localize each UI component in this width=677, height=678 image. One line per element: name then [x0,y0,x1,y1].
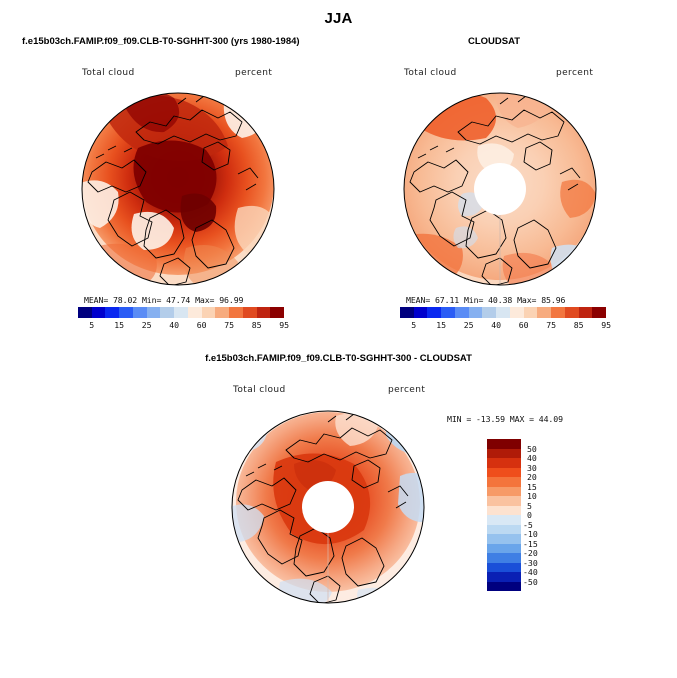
obs-cbtick-3: 40 [483,320,509,330]
model-cbtick-7: 95 [271,320,297,330]
model-cbtick-6: 85 [244,320,270,330]
difference-cbtick-6: 5 [527,501,532,511]
difference-cbtick-0: 50 [527,444,537,454]
difference-colorbar-swatches[interactable] [487,439,521,591]
difference-cbtick-8: -5 [523,520,533,530]
difference-cbtick-7: 0 [527,510,532,520]
model-units-label: percent [235,68,272,78]
difference-stats: MIN = -13.59 MAX = 44.09 [447,414,563,424]
obs-cbtick-7: 95 [593,320,619,330]
model-variable-label: Total cloud [82,68,135,78]
model-colorbar-swatches[interactable] [78,307,284,318]
model-colorbar[interactable]: 5 15 25 40 60 75 85 95 [78,307,284,334]
difference-polar-data-gap [302,481,354,533]
obs-polar-map [400,88,600,293]
model-polar-map [78,88,278,293]
model-cbtick-3: 40 [161,320,187,330]
obs-stats: MEAN= 67.11 Min= 40.38 Max= 85.96 [406,295,565,305]
season-title: JJA [0,10,677,27]
model-cbtick-4: 60 [189,320,215,330]
obs-variable-label: Total cloud [404,68,457,78]
difference-cbtick-10: -15 [523,539,538,549]
model-panel-title: f.e15b03ch.FAMIP.f09_f09.CLB-T0-SGHHT-30… [22,36,300,47]
obs-cbtick-2: 25 [456,320,482,330]
model-cbtick-0: 5 [79,320,105,330]
obs-cbtick-4: 60 [511,320,537,330]
obs-cbtick-5: 75 [538,320,564,330]
obs-polar-data-gap [474,163,526,215]
obs-units-label: percent [556,68,593,78]
model-cbtick-5: 75 [216,320,242,330]
difference-units-label: percent [388,385,425,395]
difference-cbtick-11: -20 [523,548,538,558]
model-stats: MEAN= 78.02 Min= 47.74 Max= 96.99 [84,295,243,305]
obs-cbtick-0: 5 [401,320,427,330]
model-cbtick-2: 25 [134,320,160,330]
difference-panel-title: f.e15b03ch.FAMIP.f09_f09.CLB-T0-SGHHT-30… [0,353,677,364]
obs-panel-title: CLOUDSAT [468,36,520,47]
difference-cbtick-14: -50 [523,577,538,587]
difference-variable-label: Total cloud [233,385,286,395]
model-cbtick-1: 15 [106,320,132,330]
obs-colorbar-swatches[interactable] [400,307,606,318]
obs-colorbar[interactable]: 5 15 25 40 60 75 85 95 [400,307,606,334]
obs-cbtick-6: 85 [566,320,592,330]
difference-cbtick-3: 20 [527,472,537,482]
difference-cbtick-5: 10 [527,491,537,501]
difference-cbtick-4: 15 [527,482,537,492]
difference-cbtick-9: -10 [523,529,538,539]
difference-cbtick-13: -40 [523,567,538,577]
difference-cbtick-12: -30 [523,558,538,568]
obs-cbtick-1: 15 [428,320,454,330]
difference-cbtick-1: 40 [527,453,537,463]
difference-cbtick-2: 30 [527,463,537,473]
difference-polar-map [228,406,428,611]
difference-colorbar[interactable]: 50 40 30 20 15 10 5 0 -5 -10 -15 -20 -30… [487,439,521,591]
